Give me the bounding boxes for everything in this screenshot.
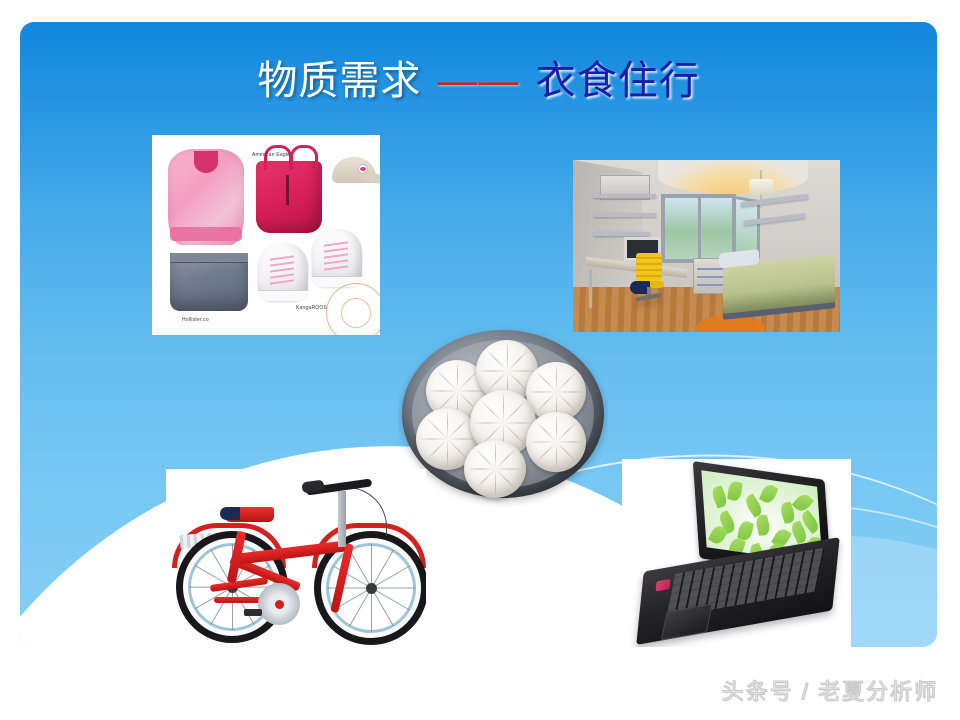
shoe-laces-right [324, 243, 348, 271]
laptop-scene [622, 459, 851, 647]
label-american-eagle: American Eagle [252, 152, 290, 158]
brake-cable [342, 487, 387, 536]
bicycle-scene [166, 469, 426, 647]
clothing-watermark-stamp [326, 283, 380, 335]
pedal-icon [244, 609, 262, 616]
shelf-left-2 [594, 213, 655, 217]
laptop-sticker [655, 579, 670, 592]
slide-canvas: 物质需求 —— 衣食住行 [0, 0, 960, 720]
label-kangaroos: KangaROOS [296, 305, 327, 311]
title-sub-text: 衣食住行 [536, 59, 700, 103]
bedroom-scene [573, 160, 840, 332]
bag-zipper [286, 175, 289, 205]
steamed-buns-image [398, 322, 608, 507]
cap-logo-icon [358, 164, 368, 174]
yellow-chair-icon [634, 253, 671, 294]
pendant-lamp-icon [760, 170, 762, 208]
beige-cap-icon [332, 157, 376, 183]
bag-handle-right [290, 145, 318, 170]
watermark-text: 头条号 / 老夏分析师 [722, 674, 938, 706]
title-dash: —— [438, 59, 520, 103]
bedroom-image [573, 160, 840, 332]
steamed-bun [464, 440, 526, 498]
sneaker-icon-right [312, 229, 362, 287]
bicycle-saddle-icon [224, 507, 274, 522]
chainring-icon [258, 583, 300, 625]
chair-back [636, 253, 662, 281]
slide-body: 物质需求 —— 衣食住行 [20, 22, 937, 647]
shelf-left-3 [594, 232, 650, 236]
shelf-left-1 [594, 194, 655, 198]
laptop-image [622, 459, 851, 647]
shoe-laces-left [270, 257, 294, 285]
steamed-bun [526, 412, 586, 472]
sneaker-icon-left [258, 243, 308, 301]
clothing-canvas: American Eagle Hollister.co KangaROOS [152, 135, 380, 335]
label-hollister: Hollister.co [182, 317, 209, 323]
bicycle-image [166, 469, 426, 647]
front-hub [366, 583, 377, 594]
slide-title: 物质需求 —— 衣食住行 [20, 58, 937, 104]
pink-handbag-icon [256, 161, 322, 233]
title-main-text: 物质需求 [257, 59, 421, 103]
clothing-image: American Eagle Hollister.co KangaROOS [152, 135, 380, 335]
denim-skirt-icon [170, 253, 248, 311]
desk-leg [589, 270, 592, 308]
shoe-sole-left [258, 290, 308, 301]
pink-sweater-icon [168, 149, 244, 245]
